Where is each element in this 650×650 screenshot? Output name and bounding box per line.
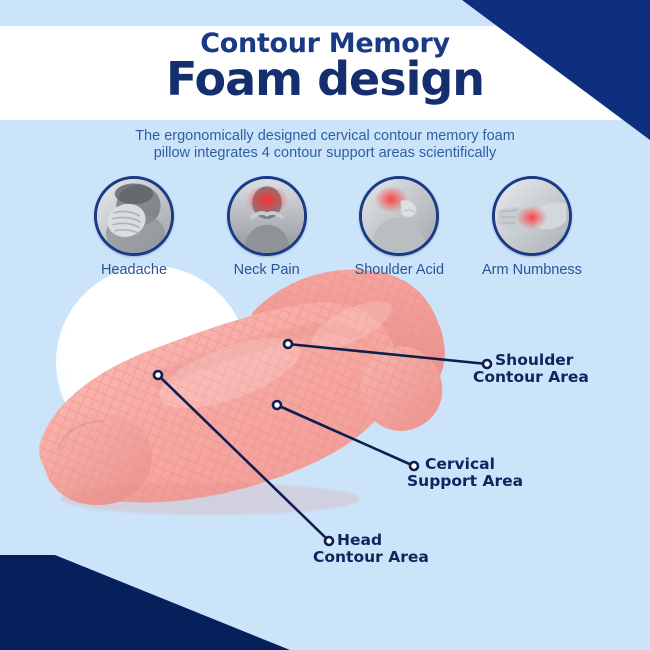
symptom-list: Headache	[78, 176, 588, 296]
symptom-label-line2: Numbness	[513, 262, 582, 278]
symptom-label-line1: Neck Pain	[234, 262, 300, 278]
person-holding-head-icon	[94, 176, 174, 256]
symptom-label-headache: Headache	[101, 263, 167, 279]
callout-line1: Head	[337, 532, 429, 549]
callout-line1: Shoulder	[495, 352, 589, 369]
symptom-label-shoulder-acid: Shoulder Acid	[355, 263, 445, 279]
callout-head-contour-area[interactable]: Head Contour Area	[337, 532, 429, 567]
subtitle: The ergonomically designed cervical cont…	[55, 128, 595, 162]
callout-line2: Support Area	[407, 473, 523, 490]
symptom-label-neck-pain: Neck Pain	[234, 263, 300, 279]
person-shoulder-pain-icon	[359, 176, 439, 256]
callout-line1: Cervical	[425, 456, 523, 473]
callout-line2: Contour Area	[313, 549, 429, 566]
infographic-canvas: Contour Memory Foam design The ergonomic…	[0, 0, 650, 650]
callout-line2: Contour Area	[473, 369, 589, 386]
subtitle-line-2: pillow integrates 4 contour support area…	[154, 145, 497, 161]
symptom-item-shoulder-acid[interactable]: Shoulder Acid	[343, 176, 455, 279]
symptom-label-line1: Arm	[482, 262, 509, 278]
symptom-label-arm-numbness: Arm Numbness	[482, 263, 582, 279]
title-line-big: Foam design	[0, 56, 650, 104]
product-image-pillow	[0, 255, 650, 595]
subtitle-line-1: The ergonomically designed cervical cont…	[135, 128, 515, 144]
hands-arm-numbness-icon	[492, 176, 572, 256]
callout-cervical-support-area[interactable]: Cervical Support Area	[425, 456, 523, 491]
page-title: Contour Memory Foam design	[0, 30, 650, 104]
symptom-item-arm-numbness[interactable]: Arm Numbness	[476, 176, 588, 279]
symptom-item-neck-pain[interactable]: Neck Pain	[211, 176, 323, 279]
symptom-label-line1: Headache	[101, 262, 167, 278]
symptom-item-headache[interactable]: Headache	[78, 176, 190, 279]
symptom-label-line1: Shoulder	[355, 262, 413, 278]
symptom-label-line2: Acid	[416, 262, 444, 278]
callout-shoulder-contour-area[interactable]: Shoulder Contour Area	[495, 352, 589, 387]
person-neck-pain-icon	[227, 176, 307, 256]
